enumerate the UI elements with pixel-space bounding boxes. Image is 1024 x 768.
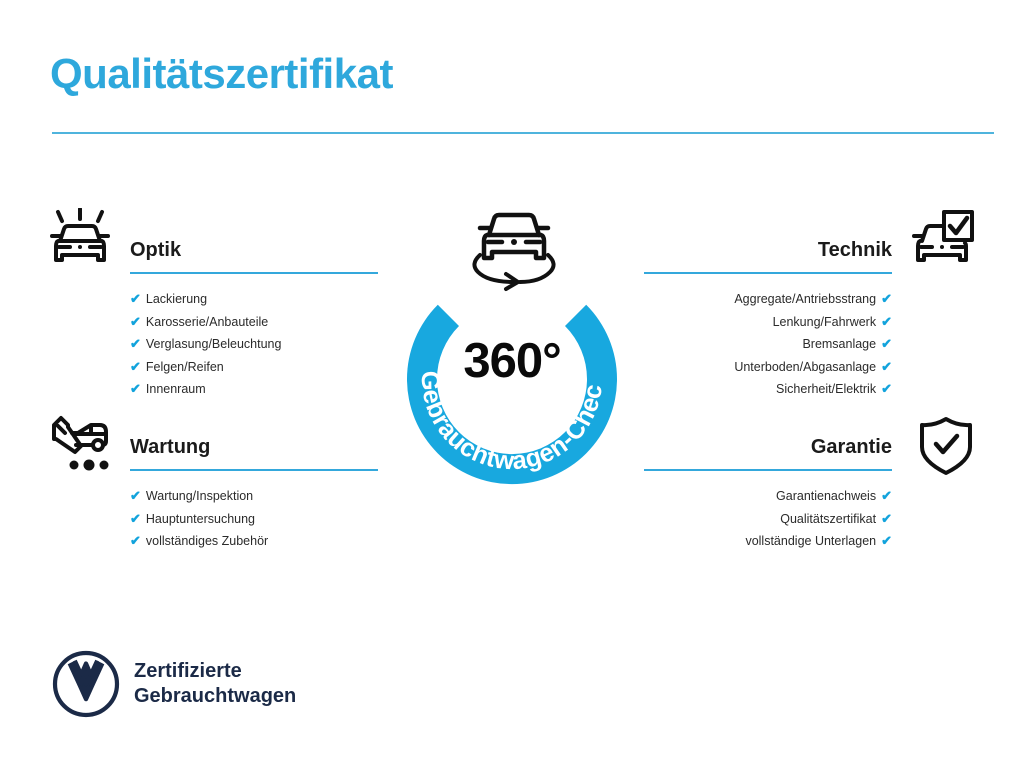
list-item-label: Garantienachweis: [776, 489, 876, 503]
list-item-label: Karosserie/Anbauteile: [146, 315, 268, 329]
check-icon: ✔: [881, 314, 892, 329]
list-item-label: Unterboden/Abgasanlage: [734, 360, 876, 374]
list-item: Aggregate/Antriebsstrang✔: [644, 288, 892, 311]
list-item: ✔Lackierung: [130, 288, 378, 311]
list-item: ✔Felgen/Reifen: [130, 356, 378, 379]
section-technik: Technik Aggregate/Antriebsstrang✔ Lenkun…: [644, 238, 892, 401]
section-wartung: Wartung ✔Wartung/Inspektion ✔Hauptunters…: [130, 435, 378, 553]
list-item: Bremsanlage✔: [644, 333, 892, 356]
section-header-garantie: Garantie: [644, 435, 892, 471]
car-rotate-icon: [462, 200, 566, 292]
list-item-label: Lenkung/Fahrwerk: [773, 315, 877, 329]
check-icon: ✔: [130, 533, 141, 548]
section-title: Wartung: [130, 435, 378, 459]
section-optik: Optik ✔Lackierung ✔Karosserie/Anbauteile…: [130, 238, 378, 401]
list-item: Lenkung/Fahrwerk✔: [644, 311, 892, 334]
check-icon: ✔: [130, 314, 141, 329]
section-header-technik: Technik: [644, 238, 892, 274]
page-title: Qualitätszertifikat: [50, 50, 393, 98]
list-item-label: vollständiges Zubehör: [146, 534, 268, 548]
vw-certified-logo: Zertifizierte Gebrauchtwagen: [52, 650, 296, 718]
list-item: Garantienachweis✔: [644, 485, 892, 508]
check-icon: ✔: [881, 533, 892, 548]
checklist-optik: ✔Lackierung ✔Karosserie/Anbauteile ✔Verg…: [130, 288, 378, 401]
footer-line-2: Gebrauchtwagen: [134, 684, 296, 709]
check-icon: ✔: [881, 488, 892, 503]
section-title: Garantie: [644, 435, 892, 459]
check-icon: ✔: [881, 511, 892, 526]
footer-text: Zertifizierte Gebrauchtwagen: [134, 659, 296, 709]
section-title: Optik: [130, 238, 378, 262]
list-item: ✔vollständiges Zubehör: [130, 530, 378, 553]
section-header-wartung: Wartung: [130, 435, 378, 471]
list-item: ✔Hauptuntersuchung: [130, 508, 378, 531]
section-garantie: Garantie Garantienachweis✔ Qualitätszert…: [644, 435, 892, 553]
header-divider: [52, 132, 994, 134]
list-item-label: Aggregate/Antriebsstrang: [734, 292, 876, 306]
list-item-label: Felgen/Reifen: [146, 360, 224, 374]
check-icon: ✔: [130, 359, 141, 374]
gebrauchtwagen-check-badge: Gebrauchtwagen-Check 360°: [378, 255, 646, 503]
car-lift-service-icon: [48, 415, 114, 478]
list-item: vollständige Unterlagen✔: [644, 530, 892, 553]
car-shine-icon: [48, 208, 114, 275]
check-icon: ✔: [130, 291, 141, 306]
list-item: Qualitätszertifikat✔: [644, 508, 892, 531]
car-checkbox-icon: [910, 208, 976, 275]
certificate-page: Qualitätszertifikat Optik ✔Lackierung ✔K…: [0, 0, 1024, 768]
checklist-garantie: Garantienachweis✔ Qualitätszertifikat✔ v…: [644, 485, 892, 553]
section-header-optik: Optik: [130, 238, 378, 274]
section-underline: [644, 272, 892, 274]
list-item-label: Lackierung: [146, 292, 207, 306]
list-item-label: Bremsanlage: [802, 337, 876, 351]
check-icon: ✔: [130, 336, 141, 351]
section-underline: [130, 272, 378, 274]
list-item-label: Innenraum: [146, 382, 206, 396]
shield-check-icon: [918, 415, 974, 482]
vw-logo-icon: [52, 650, 120, 718]
footer-line-1: Zertifizierte: [134, 659, 296, 684]
list-item: ✔Karosserie/Anbauteile: [130, 311, 378, 334]
section-underline: [644, 469, 892, 471]
check-icon: ✔: [881, 381, 892, 396]
list-item-label: Sicherheit/Elektrik: [776, 382, 876, 396]
check-icon: ✔: [130, 511, 141, 526]
check-icon: ✔: [881, 359, 892, 374]
list-item-label: Wartung/Inspektion: [146, 489, 253, 503]
check-icon: ✔: [881, 336, 892, 351]
list-item: Sicherheit/Elektrik✔: [644, 378, 892, 401]
check-icon: ✔: [881, 291, 892, 306]
badge-center-label: 360°: [378, 333, 646, 389]
list-item-label: Qualitätszertifikat: [780, 512, 876, 526]
list-item-label: vollständige Unterlagen: [745, 534, 876, 548]
list-item-label: Verglasung/Beleuchtung: [146, 337, 282, 351]
check-icon: ✔: [130, 488, 141, 503]
list-item: ✔Wartung/Inspektion: [130, 485, 378, 508]
list-item: ✔Verglasung/Beleuchtung: [130, 333, 378, 356]
section-underline: [130, 469, 378, 471]
checklist-wartung: ✔Wartung/Inspektion ✔Hauptuntersuchung ✔…: [130, 485, 378, 553]
section-title: Technik: [644, 238, 892, 262]
list-item: Unterboden/Abgasanlage✔: [644, 356, 892, 379]
list-item: ✔Innenraum: [130, 378, 378, 401]
list-item-label: Hauptuntersuchung: [146, 512, 255, 526]
check-icon: ✔: [130, 381, 141, 396]
checklist-technik: Aggregate/Antriebsstrang✔ Lenkung/Fahrwe…: [644, 288, 892, 401]
